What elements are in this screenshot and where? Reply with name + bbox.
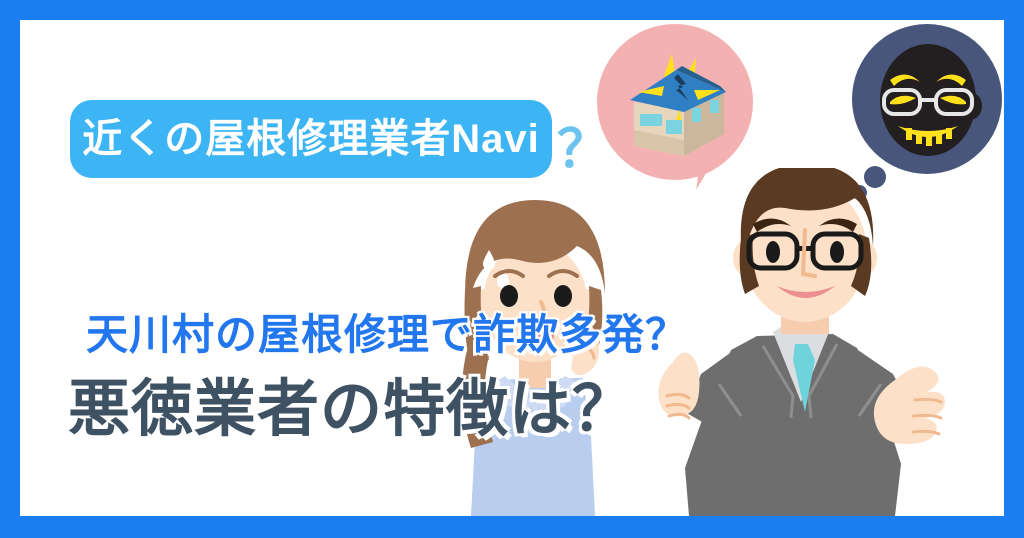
question-mark-decoration: ？ [557,124,609,176]
headline-line-2: 悪徳業者の特徴は？ [68,376,635,444]
businessman-illustration [645,168,965,516]
headline-line-1: 天川村の屋根修理で詐欺多発？ [86,312,688,358]
shady-contractor-face-icon [872,40,984,160]
damaged-house-icon [620,52,732,156]
site-name-badge[interactable]: 近くの屋根修理業者Navi [70,100,552,178]
thumbnail-canvas: 近くの屋根修理業者Navi ？ [0,0,1024,538]
site-name-label: 近くの屋根修理業者Navi [82,119,540,159]
